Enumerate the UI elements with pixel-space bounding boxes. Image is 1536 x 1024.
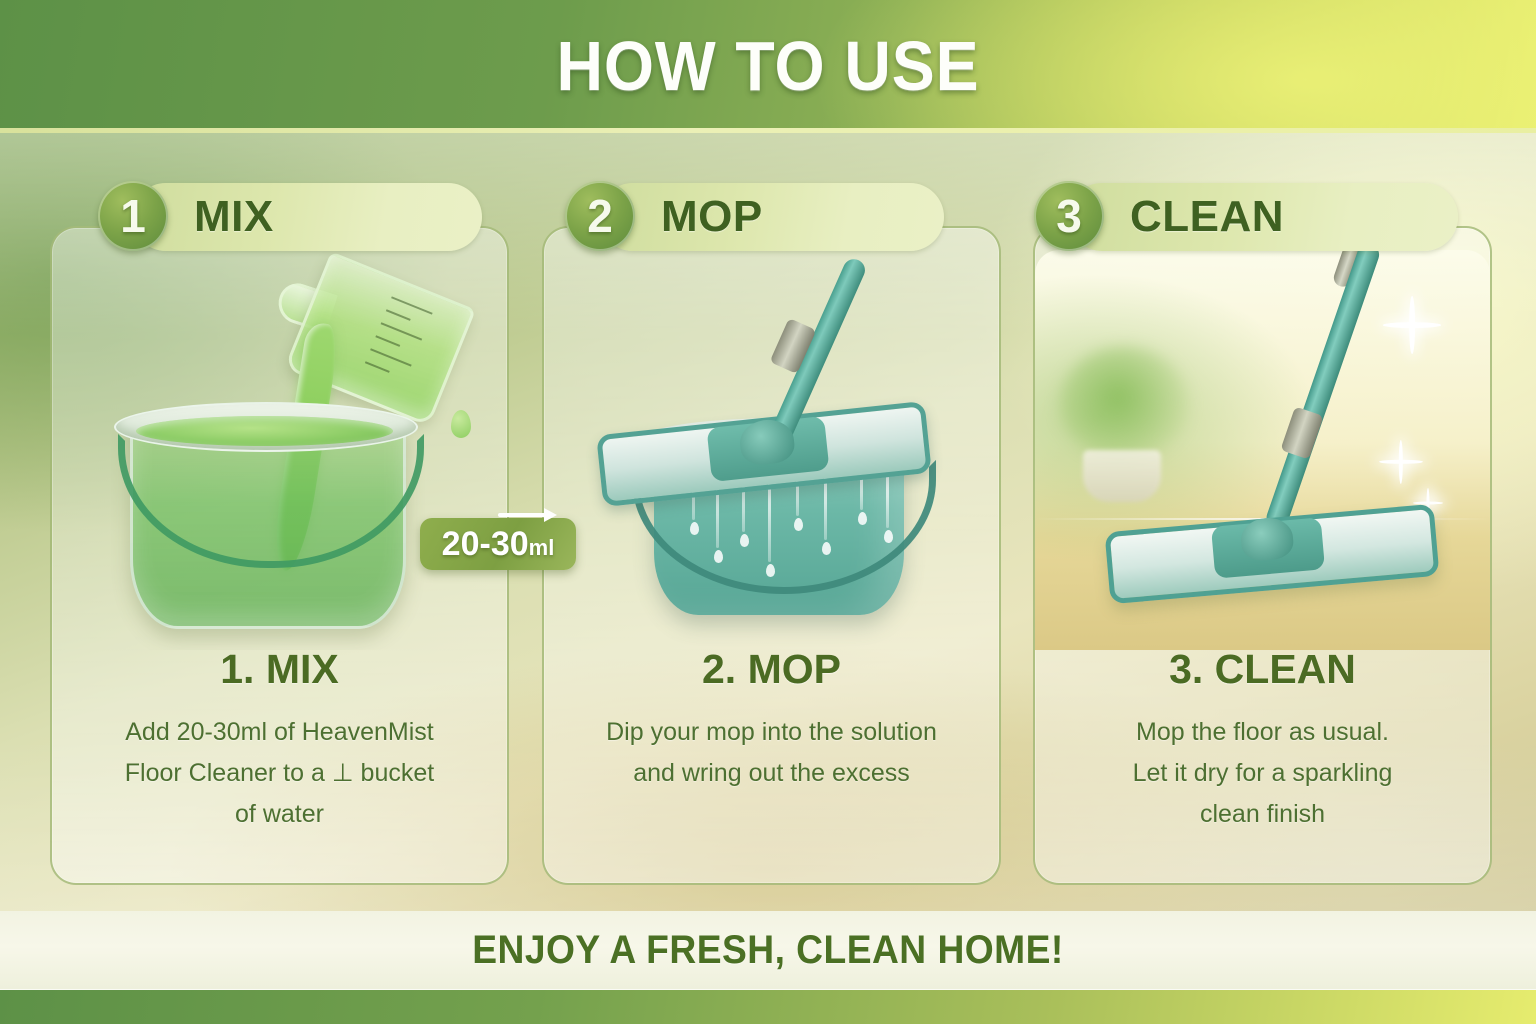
plant-leaves [1059, 346, 1189, 461]
step-1-title: 1. MIX [52, 646, 507, 693]
step-1-desc-line-1: Add 20-30ml of HeavenMist [82, 712, 477, 753]
step-3-desc-line-3: clean finish [1065, 794, 1460, 835]
header-banner: HOW TO USE [0, 0, 1536, 133]
footer-banner: ENJOY A FRESH, CLEAN HOME! [0, 911, 1536, 990]
step-2-number: 2 [565, 181, 635, 251]
step-3-illustration [1035, 250, 1490, 650]
step-3-desc-line-1: Mop the floor as usual. [1065, 712, 1460, 753]
step-2-pill-label: MOP [661, 183, 763, 251]
dosage-value: 20-30 [442, 525, 529, 563]
content-background: 20-30ml 1 MIX 1. MIX Add 20-30ml of Heav… [0, 133, 1536, 911]
step-card-mix: 20-30ml 1 MIX 1. MIX Add 20-30ml of Heav… [50, 226, 509, 885]
measuring-cup-ticks [360, 296, 456, 400]
plant-pot [1083, 450, 1161, 502]
steps-container: 20-30ml 1 MIX 1. MIX Add 20-30ml of Heav… [0, 133, 1536, 911]
step-3-pill[interactable]: 3 CLEAN [1068, 183, 1458, 251]
step-2-desc-line-1: Dip your mop into the solution [574, 712, 969, 753]
step-1-number: 1 [98, 181, 168, 251]
dosage-callout-text: 20-30ml [420, 518, 576, 570]
footer-accent-strip [0, 990, 1536, 1024]
step-1-illustration [52, 250, 507, 650]
step-3-pill-label: CLEAN [1130, 183, 1284, 251]
step-card-clean: 3 CLEAN 3. CLEAN Mop the floor as usual.… [1033, 226, 1492, 885]
step-2-description: Dip your mop into the solution and wring… [574, 712, 969, 794]
step-3-number: 3 [1034, 181, 1104, 251]
step-3-description: Mop the floor as usual. Let it dry for a… [1065, 712, 1460, 835]
liquid-drip [451, 410, 471, 438]
sparkle-icon [1383, 296, 1441, 354]
dosage-callout-badge: 20-30ml [420, 518, 576, 570]
arrow-right-icon [498, 506, 558, 522]
step-2-illustration [544, 250, 999, 650]
step-1-description: Add 20-30ml of HeavenMist Floor Cleaner … [82, 712, 477, 835]
step-2-title: 2. MOP [544, 646, 999, 693]
step-card-mop: 2 MOP 2. MOP Dip your mop into the solut… [542, 226, 1001, 885]
step-1-pill[interactable]: 1 MIX [132, 183, 482, 251]
step-1-desc-line-3: of water [82, 794, 477, 835]
how-to-use-infographic: HOW TO USE [0, 0, 1536, 1024]
dosage-unit: ml [529, 535, 555, 560]
step-1-desc-line-2: Floor Cleaner to a ⊥ bucket [82, 753, 477, 794]
step-3-desc-line-2: Let it dry for a sparkling [1065, 753, 1460, 794]
page-title: HOW TO USE [61, 26, 1474, 106]
step-3-title: 3. CLEAN [1035, 646, 1490, 693]
step-2-pill[interactable]: 2 MOP [599, 183, 944, 251]
footer-tagline: ENJOY A FRESH, CLEAN HOME! [54, 928, 1482, 973]
sparkle-icon [1379, 440, 1423, 484]
step-2-desc-line-2: and wring out the excess [574, 753, 969, 794]
step-1-pill-label: MIX [194, 183, 274, 251]
